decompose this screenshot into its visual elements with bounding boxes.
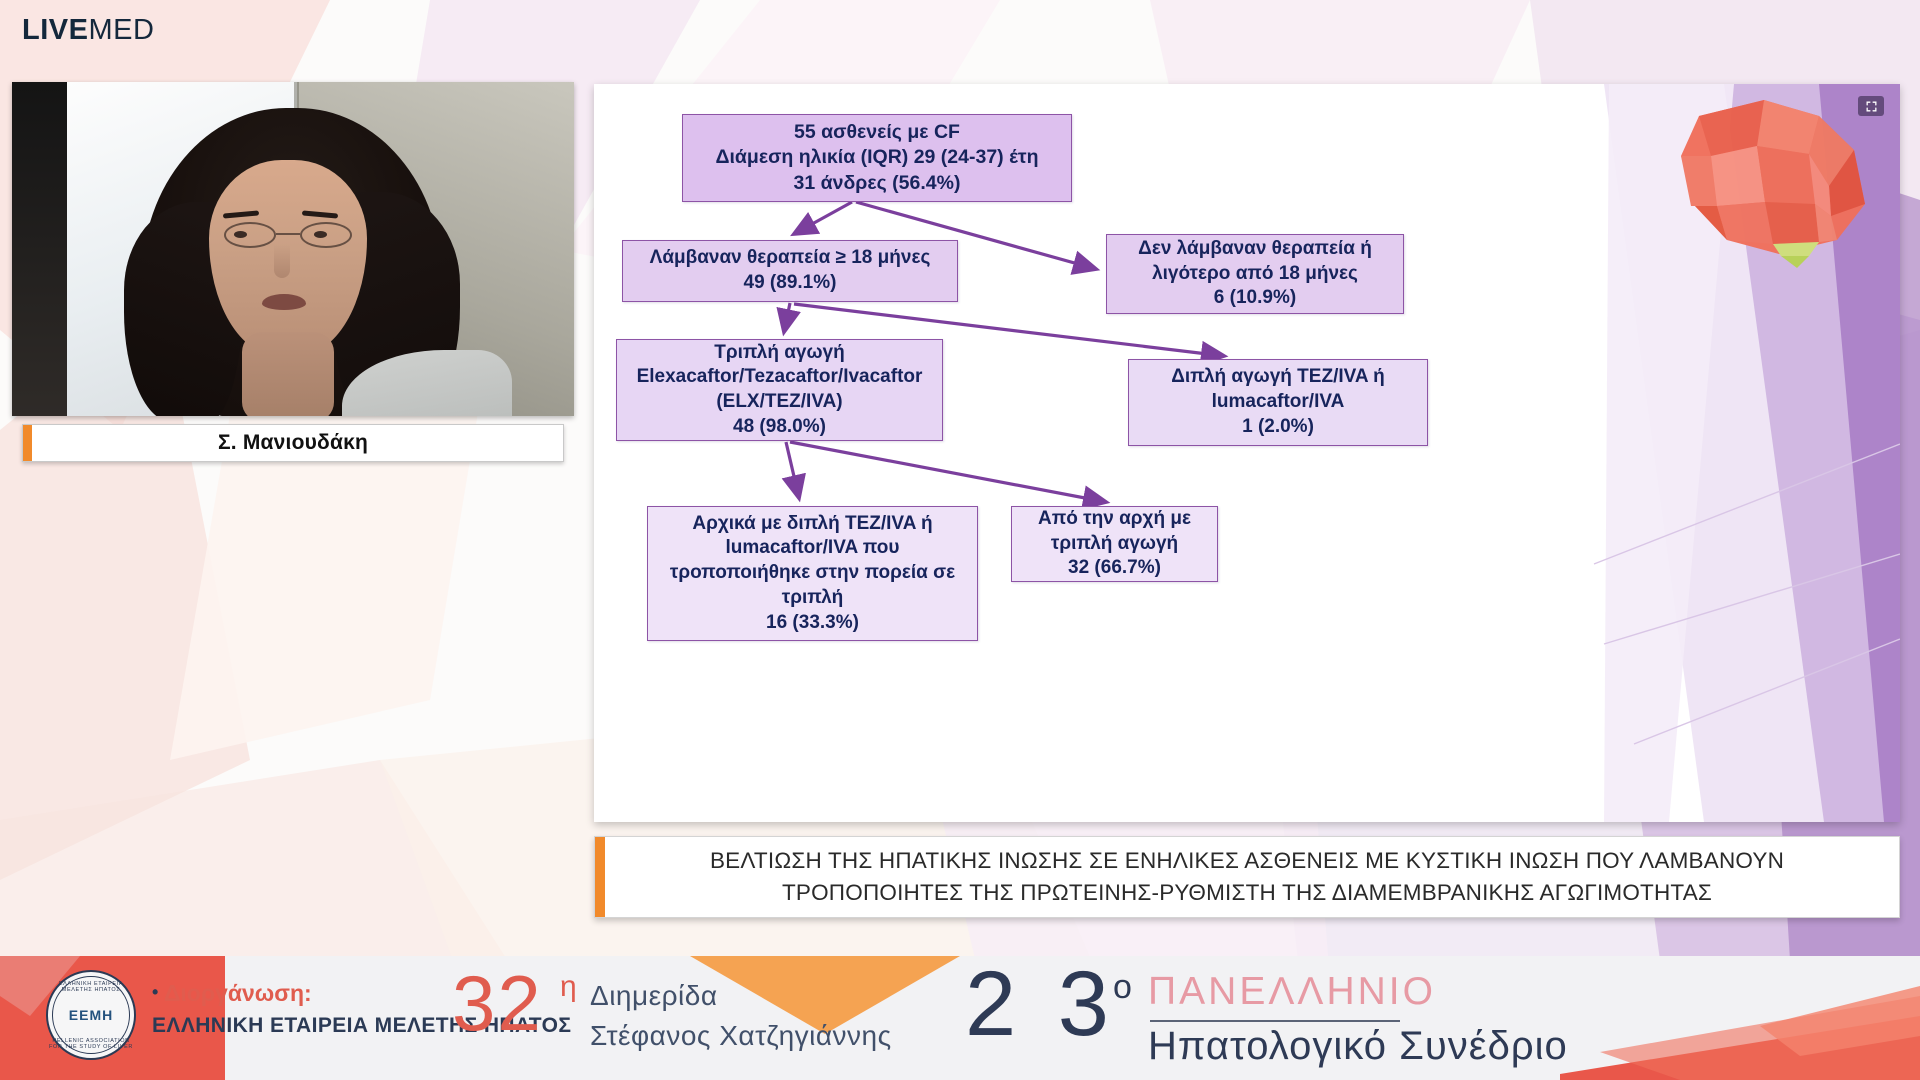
flow-node-text: Δεν λάμβαναν θεραπεία ή λιγότερο από 18 … <box>1138 237 1372 311</box>
flow-node-not-treated: Δεν λάμβαναν θεραπεία ή λιγότερο από 18 … <box>1106 234 1404 314</box>
flow-node-switched-to-triple: Αρχικά με διπλή TEZ/IVA ή lumacaftor/IVA… <box>647 506 978 641</box>
speaker-bar-accent <box>23 425 32 461</box>
organizer-label-text: Διοργάνωση: <box>164 980 312 1006</box>
event1-ordinal-suffix: η <box>560 970 577 1004</box>
speaker-eye-left <box>234 231 247 238</box>
flow-node-dual-therapy: Διπλή αγωγή TEZ/IVA ή lumacaftor/IVA 1 (… <box>1128 359 1428 446</box>
flowchart: 55 ασθενείς με CF Διάμεση ηλικία (IQR) 2… <box>594 84 1900 822</box>
flow-node-text: Από την αρχή με τριπλή αγωγή 32 (66.7%) <box>1038 507 1191 581</box>
title-bar-accent <box>595 837 605 917</box>
presentation-title-bar: ΒΕΛΤΙΩΣΗ ΤΗΣ ΗΠΑΤΙΚΗΣ ΙΝΩΣΗΣ ΣΕ ΕΝΗΛΙΚΕΣ… <box>594 836 1900 918</box>
video-frame <box>12 82 574 416</box>
seal-arc-bottom-text: HELLENIC ASSOCIATION FOR THE STUDY OF LI… <box>48 1038 134 1050</box>
event2-divider <box>1150 1020 1400 1022</box>
flow-node-text: Τριπλή αγωγή Elexacaftor/Tezacaftor/Ivac… <box>637 341 923 440</box>
flow-node-triple-therapy: Τριπλή αγωγή Elexacaftor/Tezacaftor/Ivac… <box>616 339 943 441</box>
flow-node-text: 55 ασθενείς με CF Διάμεση ηλικία (IQR) 2… <box>715 120 1038 196</box>
eemh-logo: ΕΛΛΗΝΙΚΗ ΕΤΑΙΡΕΙΑ ΜΕΛΕΤΗΣ ΗΠΑΤΟΣ HELLENI… <box>46 970 136 1060</box>
event1-line2: Στέφανος Χατζηγιάννης <box>590 1020 892 1052</box>
arrow-n2-n4 <box>784 303 790 332</box>
speaker-mouth <box>262 294 306 310</box>
conference-footer: ΕΛΛΗΝΙΚΗ ΕΤΑΙΡΕΙΑ ΜΕΛΕΤΗΣ ΗΠΑΤΟΣ HELLENI… <box>0 956 1920 1080</box>
app-root: LIVEMED Σ. Μανιουδάκη <box>0 0 1920 1080</box>
organizer-label: • Διοργάνωση: <box>152 980 312 1007</box>
speaker-nose <box>274 244 290 278</box>
flow-node-triple-from-start: Από την αρχή με τριπλή αγωγή 32 (66.7%) <box>1011 506 1218 582</box>
flow-node-treated-18m: Λάμβαναν θεραπεία ≥ 18 μήνες 49 (89.1%) <box>622 240 958 302</box>
flow-node-text: Διπλή αγωγή TEZ/IVA ή lumacaftor/IVA 1 (… <box>1171 365 1385 439</box>
seal-arc-top-text: ΕΛΛΗΝΙΚΗ ΕΤΑΙΡΕΙΑ ΜΕΛΕΤΗΣ ΗΠΑΤΟΣ <box>48 981 134 993</box>
arrow-n4-n7 <box>790 442 1106 502</box>
speaker-name-bar: Σ. Μανιουδάκη <box>22 424 564 462</box>
footer-content: ΕΛΛΗΝΙΚΗ ΕΤΑΙΡΕΙΑ ΜΕΛΕΤΗΣ ΗΠΑΤΟΣ HELLENI… <box>0 956 1920 1080</box>
presentation-title-text: ΒΕΛΤΙΩΣΗ ΤΗΣ ΗΠΑΤΙΚΗΣ ΙΝΩΣΗΣ ΣΕ ΕΝΗΛΙΚΕΣ… <box>710 845 1784 909</box>
arrow-n1-n2 <box>794 202 852 234</box>
video-bg-left <box>12 82 67 416</box>
event2-line2: Ηπατολογικό Συνέδριο <box>1148 1026 1568 1066</box>
flow-node-total-patients: 55 ασθενείς με CF Διάμεση ηλικία (IQR) 2… <box>682 114 1072 202</box>
logo-bold-text: LIVE <box>22 14 88 46</box>
speaker-video[interactable] <box>12 82 574 416</box>
presentation-slide: 55 ασθενείς με CF Διάμεση ηλικία (IQR) 2… <box>594 84 1900 822</box>
livemed-logo: LIVEMED <box>22 14 154 47</box>
event2-ordinal-suffix: ο <box>1113 968 1132 1007</box>
flow-node-text: Αρχικά με διπλή TEZ/IVA ή lumacaftor/IVA… <box>670 512 955 635</box>
bullet-icon: • <box>152 982 158 1002</box>
speaker-name-text: Σ. Μανιουδάκη <box>218 431 368 455</box>
event1-number: 32 <box>452 964 543 1042</box>
flow-node-text: Λάμβαναν θεραπεία ≥ 18 μήνες 49 (89.1%) <box>650 246 931 295</box>
logo-light-text: MED <box>88 14 154 46</box>
event2-line1: ΠΑΝΕΛΛΗΝΙΟ <box>1148 972 1436 1011</box>
arrow-n4-n6 <box>786 442 799 498</box>
event2-number: 2 3 <box>965 958 1117 1050</box>
speaker-eye-right <box>314 231 327 238</box>
event1-line1: Διημερίδα <box>590 980 718 1012</box>
speaker-neck <box>242 332 334 416</box>
